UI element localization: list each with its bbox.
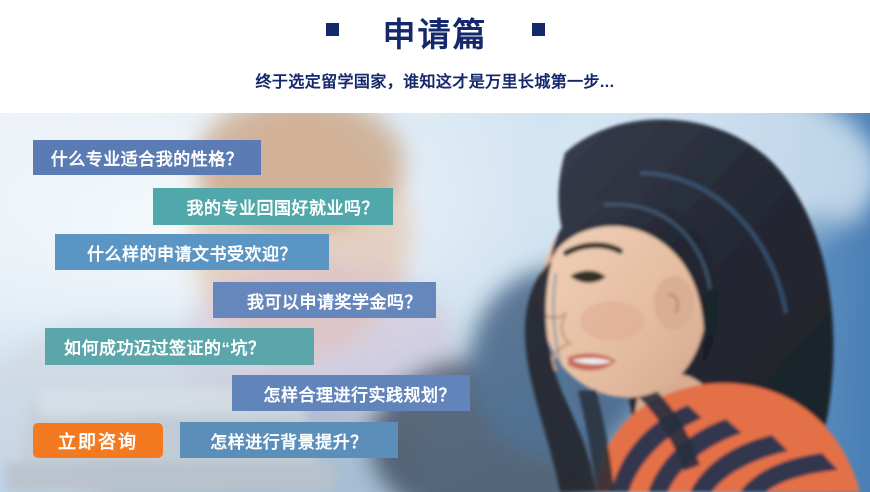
square-bullet-left-icon [326,23,339,36]
page-subtitle: 终于选定留学国家，谁知这才是万里长城第一步... [0,68,870,92]
question-chip-1[interactable]: 什么专业适合我的性格？ [33,140,261,175]
question-chip-7[interactable]: 怎样进行背景提升？ [180,422,398,458]
promo-banner: 申请篇 终于选定留学国家，谁知这才是万里长城第一步... [0,0,870,492]
question-chip-5[interactable]: 如何成功迈过签证的“坑？ [45,328,314,365]
question-chip-1-label: 什么专业适合我的性格？ [51,145,244,170]
square-bullet-right-icon [532,23,545,36]
title-row: 申请篇 [0,18,870,51]
banner-header: 申请篇 终于选定留学国家，谁知这才是万里长城第一步... [0,0,870,113]
question-chip-5-label: 如何成功迈过签证的“坑？ [64,334,266,359]
question-chip-7-label: 怎样进行背景提升？ [210,428,368,453]
question-chip-4[interactable]: 我可以申请奖学金吗？ [213,282,436,318]
question-chip-3[interactable]: 什么样的申请文书受欢迎？ [55,234,329,270]
question-chip-6[interactable]: 怎样合理进行实践规划？ [232,375,470,411]
question-chip-3-label: 什么样的申请文书受欢迎？ [87,240,297,265]
question-chip-6-label: 怎样合理进行实践规划？ [264,381,457,406]
question-chip-2[interactable]: 我的专业回国好就业吗？ [153,188,393,225]
consult-now-button[interactable]: 立即咨询 [33,423,163,458]
question-chip-2-label: 我的专业回国好就业吗？ [187,194,380,219]
question-chip-4-label: 我可以申请奖学金吗？ [247,288,422,313]
page-title: 申请篇 [383,18,488,51]
